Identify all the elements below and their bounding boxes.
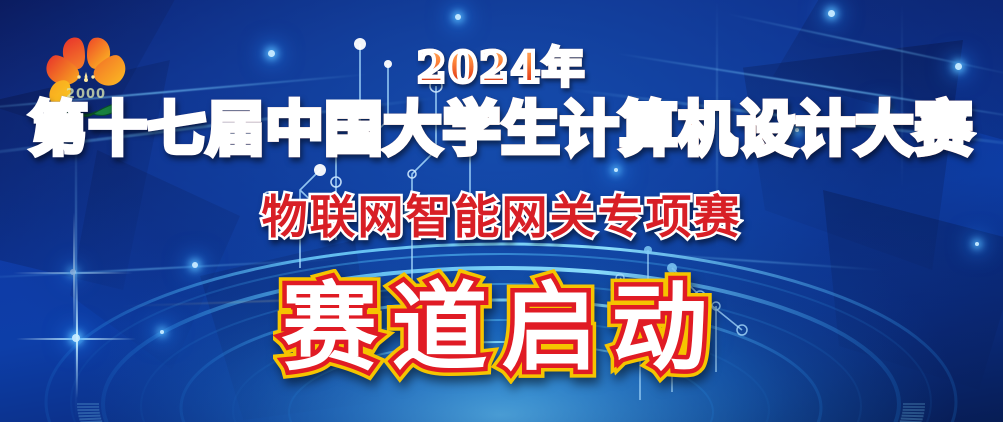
headline-stack: 赛道启动 赛道启动 赛道启动 — [282, 276, 722, 382]
headline: 赛道启动 赛道启动 赛道启动 — [0, 276, 1003, 382]
track-subtitle: 物联网智能网关专项赛 — [0, 194, 1003, 240]
star-core — [70, 269, 76, 275]
event-banner: 2000 2024年 第十七届中国大学生计算机设计大赛 物联网智能网关专项赛 赛… — [0, 0, 1003, 422]
year-label: 2024年 — [0, 34, 1003, 95]
headline-text: 赛道启动 — [282, 272, 722, 384]
glow-dot — [455, 14, 461, 20]
glow-dot — [828, 10, 835, 17]
year-text: 2024年 — [417, 43, 586, 92]
track-subtitle-text: 物联网智能网关专项赛 — [262, 190, 742, 244]
glow-dot — [975, 242, 979, 246]
competition-title-text: 第十七届中国大学生计算机设计大赛 — [29, 95, 973, 163]
glow-dot — [614, 168, 618, 172]
glow-dot — [192, 262, 198, 268]
competition-title: 第十七届中国大学生计算机设计大赛 — [0, 100, 1003, 158]
